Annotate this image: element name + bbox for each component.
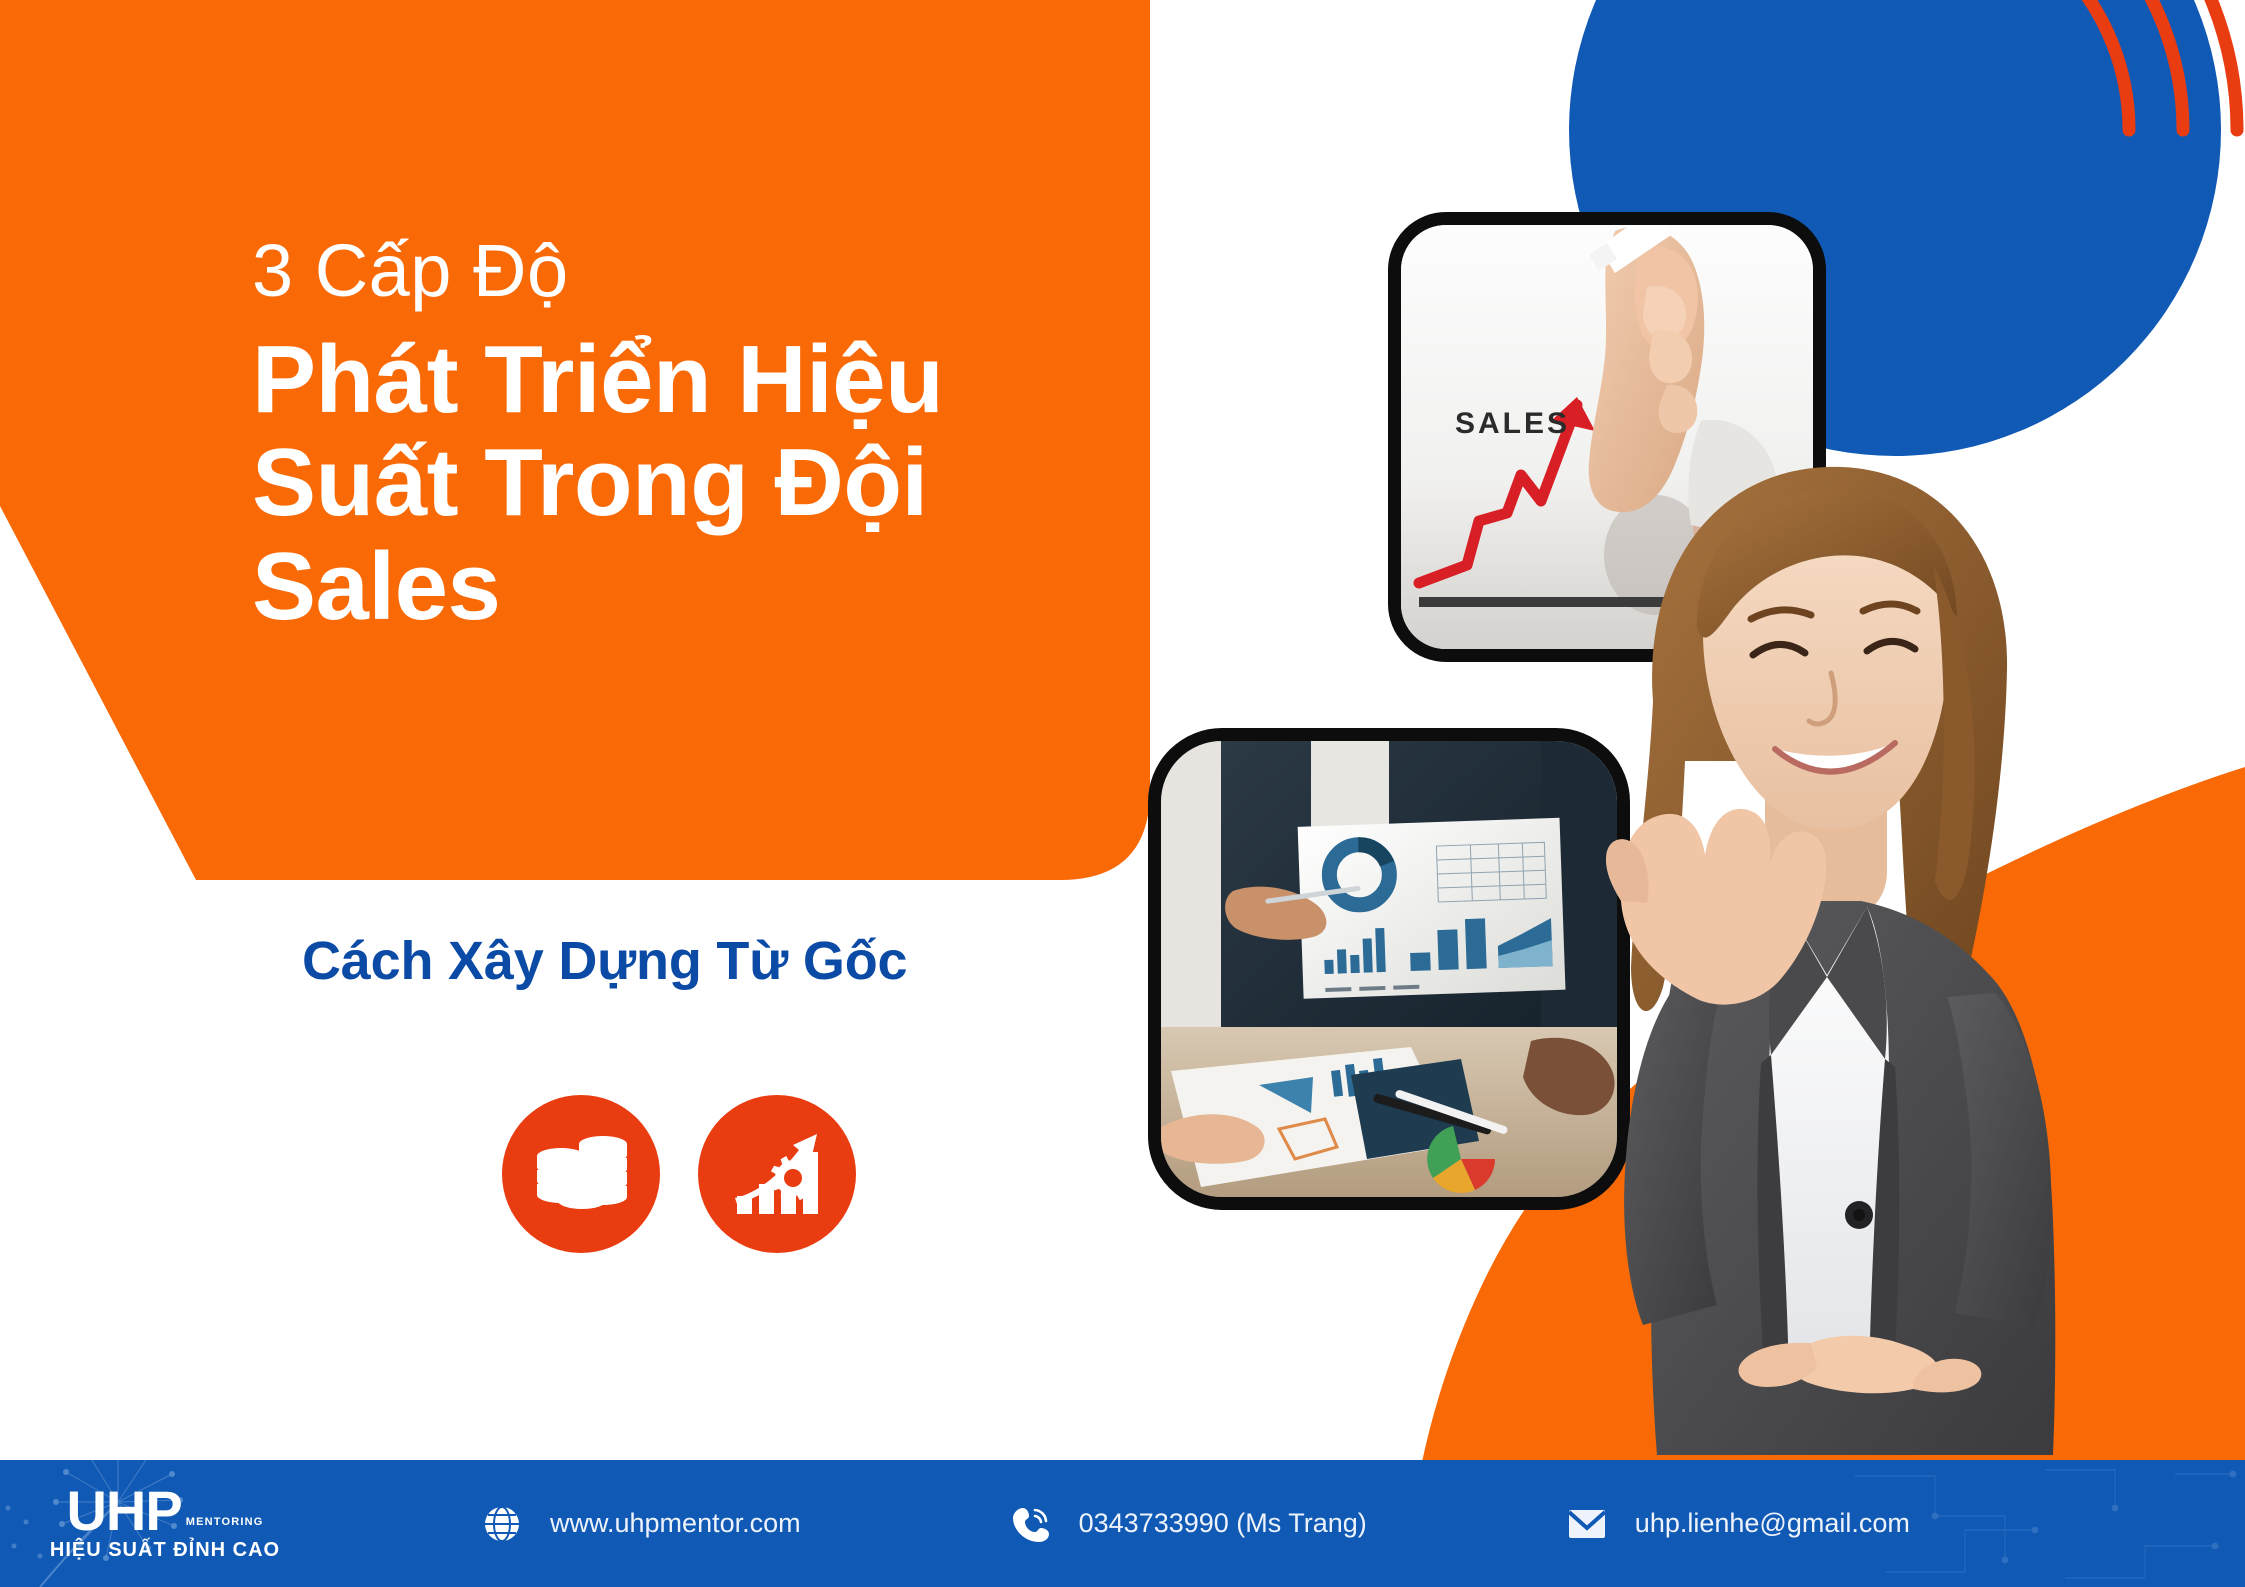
mail-icon <box>1567 1507 1607 1541</box>
coin-stack-icon <box>529 1122 633 1226</box>
logo-tagline: HIỆU SUẤT ĐỈNH CAO <box>50 1539 280 1562</box>
contact-phone-text: 0343733990 (Ms Trang) <box>1079 1508 1367 1539</box>
growth-gear-icon-circle <box>698 1095 856 1253</box>
businesswoman-presenter <box>1435 415 2155 1455</box>
hero-subtitle: Cách Xây Dựng Từ Gốc <box>302 930 907 992</box>
hero-title-block: 3 Cấp Độ Phát Triển Hiệu Suất Trong Đội … <box>252 232 1252 639</box>
uhp-logo: UHP MENTORING HIỆU SUẤT ĐỈNH CAO <box>0 1460 330 1587</box>
footer-contacts: www.uhpmentor.com 0343733990 (Ms Trang) <box>330 1504 2245 1544</box>
growth-gear-icon <box>725 1122 829 1226</box>
footer-bar: UHP MENTORING HIỆU SUẤT ĐỈNH CAO <box>0 1460 2245 1587</box>
logo-mark-text: UHP <box>66 1485 181 1537</box>
headline-line-2: Suất Trong Đội <box>252 431 1252 535</box>
contact-phone[interactable]: 0343733990 (Ms Trang) <box>1011 1504 1367 1544</box>
contact-email-text: uhp.lienhe@gmail.com <box>1635 1508 1910 1539</box>
poster-canvas: 3 Cấp Độ Phát Triển Hiệu Suất Trong Đội … <box>0 0 2245 1587</box>
headline-line-1: Phát Triển Hiệu <box>252 328 1252 432</box>
contact-website-text: www.uhpmentor.com <box>550 1508 801 1539</box>
coin-stack-icon-circle <box>502 1095 660 1253</box>
logo-mark: UHP MENTORING <box>66 1485 263 1537</box>
logo-mark-sub: MENTORING <box>186 1517 264 1527</box>
headline-line-3: Sales <box>252 535 1252 639</box>
contact-email[interactable]: uhp.lienhe@gmail.com <box>1567 1507 1910 1541</box>
hero-headline: Phát Triển Hiệu Suất Trong Đội Sales <box>252 328 1252 639</box>
feature-icon-row <box>502 1095 856 1253</box>
phone-icon <box>1011 1504 1051 1544</box>
globe-icon <box>482 1504 522 1544</box>
hero-kicker: 3 Cấp Độ <box>252 232 1252 310</box>
contact-website[interactable]: www.uhpmentor.com <box>482 1504 801 1544</box>
